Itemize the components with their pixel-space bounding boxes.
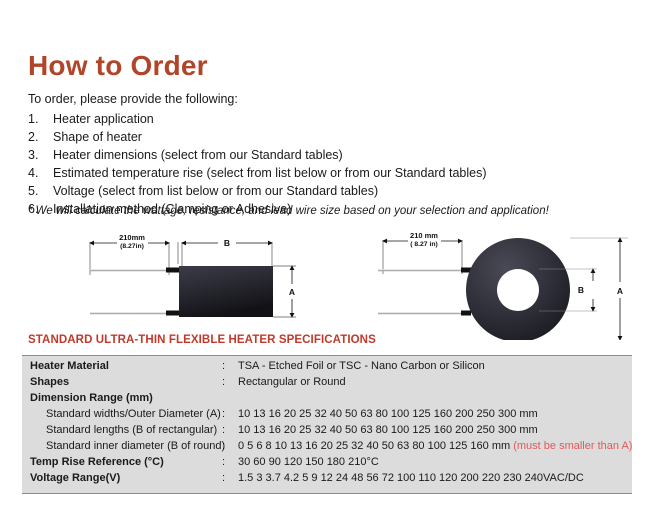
row-label: Standard inner diameter (B of round) (22, 440, 222, 452)
row-label: Heater Material (22, 360, 222, 372)
row-colon: : (222, 360, 238, 372)
table-row: Temp Rise Reference (°C) : 30 60 90 120 … (22, 456, 632, 472)
list-item-number: 3. (28, 146, 53, 164)
row-label: Shapes (22, 376, 222, 388)
table-row: Voltage Range(V) : 1.5 3 3.7 4.2 5 9 12 … (22, 472, 632, 488)
row-value-text: 0 5 6 8 10 13 16 20 25 32 40 50 63 80 10… (238, 440, 510, 452)
row-label: Temp Rise Reference (°C) (22, 456, 222, 468)
svg-text:210 mm: 210 mm (410, 231, 438, 240)
table-row: Heater Material : TSA - Etched Foil or T… (22, 360, 632, 376)
row-colon: : (222, 440, 238, 452)
table-row: Shapes : Rectangular or Round (22, 376, 632, 392)
row-colon: : (222, 376, 238, 388)
list-item: 4. Estimated temperature rise (select fr… (28, 164, 608, 182)
table-row: Dimension Range (mm) (22, 392, 632, 408)
row-label: Standard widths/Outer Diameter (A) (22, 408, 222, 420)
round-heater-diagram: 210 mm ( 8.27 in) B A (378, 231, 628, 340)
row-value: Rectangular or Round (238, 376, 632, 388)
order-requirements-list: 1. Heater application 2. Shape of heater… (28, 110, 608, 218)
spec-section-heading: STANDARD ULTRA-THIN FLEXIBLE HEATER SPEC… (28, 334, 376, 346)
list-item-number: 2. (28, 128, 53, 146)
svg-text:(8.27in): (8.27in) (120, 243, 144, 250)
row-colon: : (222, 472, 238, 484)
list-item-number: 4. (28, 164, 53, 182)
rectangular-heater-diagram: 210mm (8.27in) B A (90, 233, 296, 317)
table-row: Standard inner diameter (B of round) : 0… (22, 440, 632, 456)
spec-table: Heater Material : TSA - Etched Foil or T… (22, 355, 632, 494)
list-item-label: Shape of heater (53, 128, 608, 146)
list-item-number: 1. (28, 110, 53, 128)
row-value: 1.5 3 3.7 4.2 5 9 12 24 48 56 72 100 110… (238, 472, 632, 484)
row-label: Dimension Range (mm) (22, 392, 222, 404)
row-value-note: (must be smaller than A) (513, 440, 632, 452)
row-label: Standard lengths (B of rectangular) (22, 424, 222, 436)
list-item-label: Voltage (select from list below or from … (53, 182, 608, 200)
list-item-label: Heater dimensions (select from our Stand… (53, 146, 608, 164)
svg-text:( 8.27 in): ( 8.27 in) (410, 241, 438, 248)
page-title: How to Order (28, 52, 208, 80)
list-item: 2. Shape of heater (28, 128, 608, 146)
row-value: TSA - Etched Foil or TSC - Nano Carbon o… (238, 360, 632, 372)
row-value: 10 13 16 20 25 32 40 50 63 80 100 125 16… (238, 408, 632, 420)
list-item-number: 5. (28, 182, 53, 200)
row-colon: : (222, 456, 238, 468)
list-item-label: Estimated temperature rise (select from … (53, 164, 608, 182)
row-value: 10 13 16 20 25 32 40 50 63 80 100 125 16… (238, 424, 632, 436)
svg-text:B: B (224, 238, 230, 248)
list-item: 3. Heater dimensions (select from our St… (28, 146, 608, 164)
calculation-footnote: * We will calculate the wattage, resista… (28, 205, 549, 219)
list-item-label: Heater application (53, 110, 608, 128)
list-item: 5. Voltage (select from list below or fr… (28, 182, 608, 200)
intro-text: To order, please provide the following: (28, 92, 238, 107)
row-value: 0 5 6 8 10 13 16 20 25 32 40 50 63 80 10… (238, 440, 632, 452)
heater-diagrams: 210mm (8.27in) B A (0, 228, 650, 340)
table-row: Standard widths/Outer Diameter (A) : 10 … (22, 408, 632, 424)
svg-text:210mm: 210mm (119, 233, 145, 242)
row-colon: : (222, 424, 238, 436)
svg-text:A: A (617, 286, 623, 296)
row-colon: : (222, 408, 238, 420)
svg-text:B: B (578, 285, 584, 295)
row-label: Voltage Range(V) (22, 472, 222, 484)
row-value: 30 60 90 120 150 180 210°C (238, 456, 632, 468)
list-item: 1. Heater application (28, 110, 608, 128)
table-row: Standard lengths (B of rectangular) : 10… (22, 424, 632, 440)
svg-text:A: A (289, 287, 295, 297)
